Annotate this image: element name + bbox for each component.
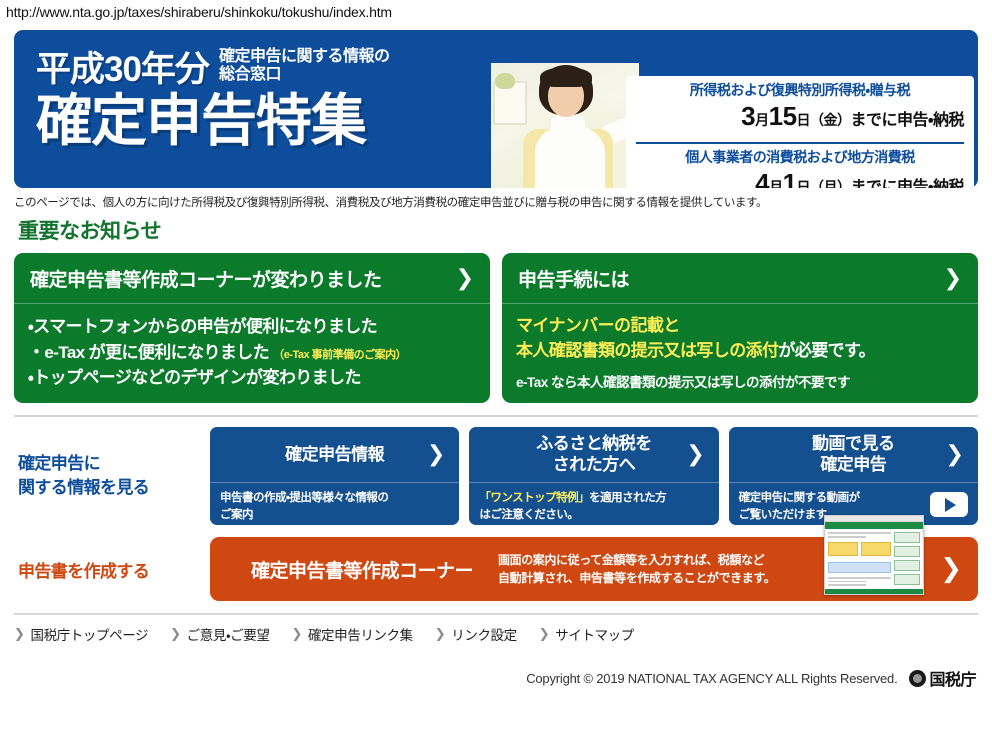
- thumbnail-button: [861, 542, 891, 556]
- highlight-line-1: マイナンバーの記載と: [516, 314, 964, 339]
- card-body: 「ワンストップ特例」を適用された方 はご注意ください。: [469, 483, 718, 525]
- hero-title: 確定申告特集: [36, 93, 477, 149]
- thumbnail-blue-panel: [828, 562, 891, 573]
- card-description: 「ワンストップ特例」を適用された方 はご注意ください。: [479, 490, 666, 523]
- card-body: 申告書の作成・提出等様々な情報の ご案内: [210, 483, 459, 525]
- deadline-month-unit: 月: [755, 112, 769, 128]
- bullet-text: ・スマートフォンからの申告が便利になりました: [28, 317, 377, 336]
- nta-emblem-icon: [909, 670, 926, 687]
- panel-body: ・スマートフォンからの申告が便利になりました ・e-Tax が更に便利になりまし…: [14, 304, 490, 403]
- chevron-right-icon: ❯: [946, 444, 964, 466]
- chevron-right-icon: ❯: [14, 627, 25, 642]
- thumbnail-main-column: [828, 532, 891, 586]
- card-header[interactable]: 確定申告情報 ❯: [210, 427, 459, 483]
- photo-body: [535, 127, 605, 188]
- card-desc-line2: ご案内: [220, 507, 388, 524]
- info-section-label: 確定申告に 関する情報を見る: [14, 452, 200, 501]
- nta-logo: 国税庁: [909, 666, 976, 690]
- hero-subtitle-line1: 確定申告に関する情報の: [219, 48, 390, 66]
- thumbnail-sidebar-item: [894, 560, 920, 571]
- section-title-important-notice: 重要なお知らせ: [18, 215, 992, 245]
- hero-subtitle-line2: 総合窓口: [219, 66, 390, 84]
- panel-creation-corner[interactable]: 確定申告書等作成コーナーが変わりました ❯ ・スマートフォンからの申告が便利にな…: [14, 253, 490, 403]
- info-label-line1: 確定申告に: [18, 452, 200, 477]
- card-description: 申告書の作成・提出等様々な情報の ご案内: [220, 490, 388, 523]
- highlight-emphasis: 本人確認書類の提示又は写しの添付: [516, 341, 778, 360]
- card-desc-line1: 申告書の作成・提出等様々な情報の: [220, 490, 388, 507]
- thumbnail-line: [828, 584, 866, 586]
- hero-left: 平成30年分 確定申告に関する情報の 総合窓口 確定申告特集: [14, 30, 477, 188]
- card-header[interactable]: 動画で見る 確定申告 ❯: [729, 427, 978, 483]
- chevron-right-icon: ❯: [291, 627, 302, 642]
- footer-link-feedback[interactable]: ❯ ご意見・ご要望: [170, 624, 269, 644]
- copyright-row: Copyright © 2019 NATIONAL TAX AGENCY ALL…: [14, 666, 976, 690]
- card-desc-rest: を適用された方: [589, 492, 666, 504]
- info-cards-row: 確定申告に 関する情報を見る 確定申告情報 ❯ 申告書の作成・提出等様々な情報の…: [14, 427, 978, 525]
- highlight-line-2: 本人確認書類の提示又は写しの添付が必要です。: [516, 339, 964, 364]
- card-title-line1: 動画で見る: [812, 434, 895, 453]
- chevron-right-icon: ❯: [930, 556, 962, 582]
- info-label-line2: 関する情報を見る: [18, 476, 200, 501]
- bullet-text: ・e-Tax が更に便利になりました: [28, 343, 269, 362]
- hero-year: 平成30年分: [36, 52, 209, 87]
- card-video-guide[interactable]: 動画で見る 確定申告 ❯ 確定申告に関する動画が ご覧いただけます。: [729, 427, 978, 525]
- thumbnail-site-header: [825, 522, 923, 529]
- card-title: ふるさと納税を された方へ: [536, 434, 652, 475]
- banner-title: 確定申告書等作成コーナー: [226, 556, 498, 583]
- highlight-rest: が必要です。: [778, 341, 875, 360]
- url-bar[interactable]: http://www.nta.go.jp/taxes/shiraberu/shi…: [0, 0, 992, 26]
- hero-subtitle: 確定申告に関する情報の 総合窓口: [219, 48, 390, 87]
- deadline-row-consumption-tax: 個人事業者の消費税および地方消費税 4月1日（月）までに申告・納税: [636, 142, 964, 188]
- footer-link-sitemap[interactable]: ❯ サイトマップ: [539, 624, 634, 644]
- thumbnail-sidebar-item: [894, 574, 920, 585]
- thumbnail-button: [828, 542, 858, 556]
- create-section-label: 申告書を作成する: [14, 557, 200, 582]
- chevron-right-icon: ❯: [435, 627, 446, 642]
- page-description: このページでは、個人の方に向けた所得税及び復興特別所得税、消費税及び地方消費税の…: [14, 194, 978, 210]
- deadline-day: 1: [783, 168, 797, 188]
- thumbnail-content: [825, 529, 923, 589]
- page-root: http://www.nta.go.jp/taxes/shiraberu/shi…: [0, 0, 992, 745]
- nta-logo-label: 国税庁: [929, 666, 976, 690]
- thumbnail-buttons: [828, 542, 891, 556]
- divider: [14, 415, 978, 417]
- footer-links: ❯ 国税庁トップページ ❯ ご意見・ご要望 ❯ 確定申告リンク集 ❯ リンク設定…: [14, 624, 978, 644]
- deadline-tail: までに申告・納税: [851, 179, 964, 188]
- deadline-date: 3月15日（金）までに申告・納税: [636, 101, 964, 132]
- footer-link-link-settings[interactable]: ❯ リンク設定: [435, 624, 517, 644]
- card-hometown-tax[interactable]: ふるさと納税を された方へ ❯ 「ワンストップ特例」を適用された方 はご注意くだ…: [469, 427, 718, 525]
- chevron-right-icon: ❯: [539, 627, 550, 642]
- footer-link-top-page[interactable]: ❯ 国税庁トップページ: [14, 624, 148, 644]
- hero-top-row: 平成30年分 確定申告に関する情報の 総合窓口: [36, 48, 477, 87]
- card-header[interactable]: ふるさと納税を された方へ ❯: [469, 427, 718, 483]
- deadlines-box: 所得税および復興特別所得税・贈与税 3月15日（金）までに申告・納税 個人事業者…: [626, 76, 974, 188]
- deadline-day-unit: 日（月）: [797, 179, 851, 188]
- thumbnail-sidebar-item: [894, 546, 920, 557]
- thumbnail-line: [828, 536, 866, 538]
- deadline-date: 4月1日（月）までに申告・納税: [636, 168, 964, 188]
- divider: [14, 613, 978, 615]
- deadline-day-unit: 日（金）: [797, 112, 851, 128]
- chevron-right-icon: ❯: [686, 444, 704, 466]
- card-title-line2: された方へ: [553, 455, 636, 474]
- panel-header-label: 申告手続には: [518, 265, 629, 292]
- photo-plant: [495, 73, 515, 89]
- card-desc-highlight: 「ワンストップ特例」: [479, 492, 589, 504]
- footer-link-label: 確定申告リンク集: [308, 624, 413, 644]
- copyright-text: Copyright © 2019 NATIONAL TAX AGENCY ALL…: [526, 671, 897, 686]
- deadline-head: 個人事業者の消費税および地方消費税: [636, 149, 964, 166]
- play-video-button[interactable]: [930, 492, 968, 517]
- create-return-row: 申告書を作成する 確定申告書等作成コーナー 画面の案内に従って金額等を入力すれば…: [14, 537, 978, 601]
- thumbnail-line: [828, 532, 891, 534]
- footer-link-label: サイトマップ: [555, 624, 634, 644]
- creation-corner-thumbnail: [824, 515, 924, 595]
- footer-link-label: リンク設定: [451, 624, 517, 644]
- chevron-right-icon: ❯: [456, 268, 474, 290]
- photo-turtleneck: [551, 115, 585, 133]
- list-item: ・トップページなどのデザインが変わりました: [28, 365, 476, 391]
- list-item: ・スマートフォンからの申告が便利になりました: [28, 314, 476, 340]
- play-icon: [945, 498, 956, 512]
- card-desc-line2: はご注意ください。: [479, 507, 666, 524]
- deadline-month: 4: [755, 168, 769, 188]
- creation-corner-banner[interactable]: 確定申告書等作成コーナー 画面の案内に従って金額等を入力すれば、税額など 自動計…: [210, 537, 978, 601]
- footer-link-links-collection[interactable]: ❯ 確定申告リンク集: [291, 624, 412, 644]
- card-title: 確定申告情報: [285, 445, 384, 465]
- thumbnail-sidebar-item: [894, 532, 920, 543]
- deadline-month-unit: 月: [769, 179, 783, 188]
- bullet-text: ・トップページなどのデザインが変わりました: [28, 368, 361, 387]
- panel-body: マイナンバーの記載と 本人確認書類の提示又は写しの添付が必要です。 e-Tax …: [502, 304, 978, 403]
- deadline-head: 所得税および復興特別所得税・贈与税: [636, 82, 964, 99]
- panel-header[interactable]: 確定申告書等作成コーナーが変わりました ❯: [14, 253, 490, 304]
- panel-footnote: e-Tax なら本人確認書類の提示又は写しの添付が不要です: [516, 371, 964, 391]
- notice-panels: 確定申告書等作成コーナーが変わりました ❯ ・スマートフォンからの申告が便利にな…: [14, 253, 978, 403]
- panel-header[interactable]: 申告手続には ❯: [502, 253, 978, 304]
- thumbnail-line: [828, 577, 891, 579]
- hero-photo-woman: [491, 63, 639, 188]
- chevron-right-icon: ❯: [427, 444, 445, 466]
- panel-header-label: 確定申告書等作成コーナーが変わりました: [30, 265, 382, 292]
- footer-link-label: ご意見・ご要望: [187, 624, 270, 644]
- hero-banner: 平成30年分 確定申告に関する情報の 総合窓口 確定申告特集: [14, 30, 978, 188]
- bullet-note[interactable]: （e-Tax 事前準備のご案内）: [273, 349, 406, 361]
- thumbnail-sidebar: [894, 532, 920, 586]
- thumbnail-line: [828, 581, 866, 583]
- chevron-right-icon: ❯: [944, 268, 962, 290]
- chevron-right-icon: ❯: [170, 627, 181, 642]
- list-item: ・e-Tax が更に便利になりました （e-Tax 事前準備のご案内）: [28, 340, 476, 366]
- photo-fringe: [540, 67, 592, 87]
- card-desc-line1: 「ワンストップ特例」を適用された方: [479, 490, 666, 507]
- card-title-line2: 確定申告: [820, 455, 886, 474]
- footer-link-label: 国税庁トップページ: [31, 624, 149, 644]
- thumbnail-footer: [825, 589, 923, 594]
- card-title-line1: ふるさと納税を: [536, 434, 652, 453]
- deadline-month: 3: [741, 101, 755, 131]
- card-title: 動画で見る 確定申告: [812, 434, 895, 475]
- card-tax-return-info[interactable]: 確定申告情報 ❯ 申告書の作成・提出等様々な情報の ご案内: [210, 427, 459, 525]
- card-desc-line1: 確定申告に関する動画が: [739, 490, 860, 507]
- deadline-row-income-tax: 所得税および復興特別所得税・贈与税 3月15日（金）までに申告・納税: [636, 82, 964, 142]
- deadline-day: 15: [769, 101, 797, 131]
- panel-filing-procedure[interactable]: 申告手続には ❯ マイナンバーの記載と 本人確認書類の提示又は写しの添付が必要で…: [502, 253, 978, 403]
- deadline-tail: までに申告・納税: [851, 112, 964, 129]
